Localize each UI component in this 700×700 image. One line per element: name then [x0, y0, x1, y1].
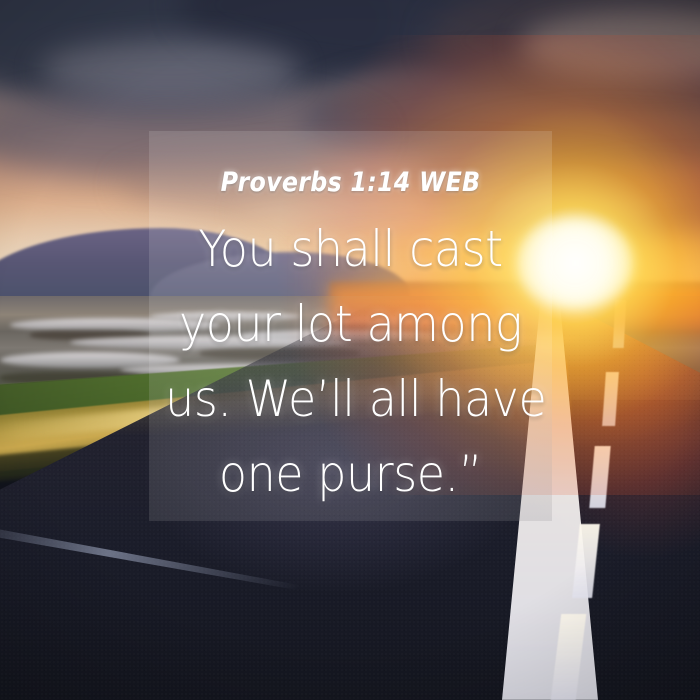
- verse-line: your lot among: [165, 287, 536, 362]
- verse-image-canvas: Proverbs 1:14 WEB You shall castyour lot…: [0, 0, 700, 700]
- verse-body: You shall castyour lot amongus. We’ll al…: [165, 212, 536, 512]
- verse-reference: Proverbs 1:14 WEB: [173, 167, 528, 198]
- lit-cloud: [40, 40, 300, 100]
- verse-text-block: Proverbs 1:14 WEB You shall castyour lot…: [149, 131, 552, 512]
- verse-line: one purse.”: [165, 437, 536, 512]
- verse-line: You shall cast: [165, 212, 536, 287]
- verse-line: us. We’ll all have: [165, 362, 536, 437]
